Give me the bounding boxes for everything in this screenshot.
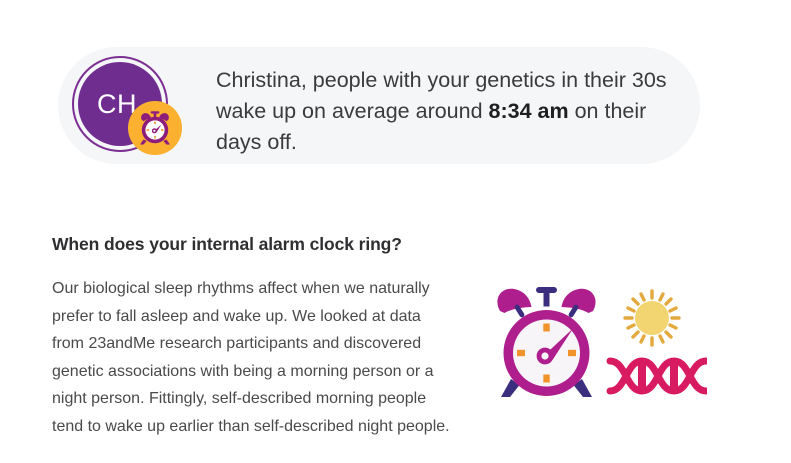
alarm-clock-icon: [135, 108, 175, 148]
alarm-clock-icon: [497, 287, 595, 397]
section-body-text: Our biological sleep rhythms affect when…: [52, 275, 452, 440]
avatar-alarm-badge: [128, 101, 182, 155]
illustration-group: [492, 283, 707, 408]
sun-icon: [625, 291, 679, 345]
section-heading: When does your internal alarm clock ring…: [52, 234, 402, 255]
insight-wake-time: 8:34 am: [489, 99, 569, 123]
insight-card: CH: [58, 47, 700, 164]
avatar: CH: [72, 56, 184, 156]
insight-message: Christina, people with your genetics in …: [216, 65, 686, 158]
dna-helix-icon: [610, 361, 706, 391]
